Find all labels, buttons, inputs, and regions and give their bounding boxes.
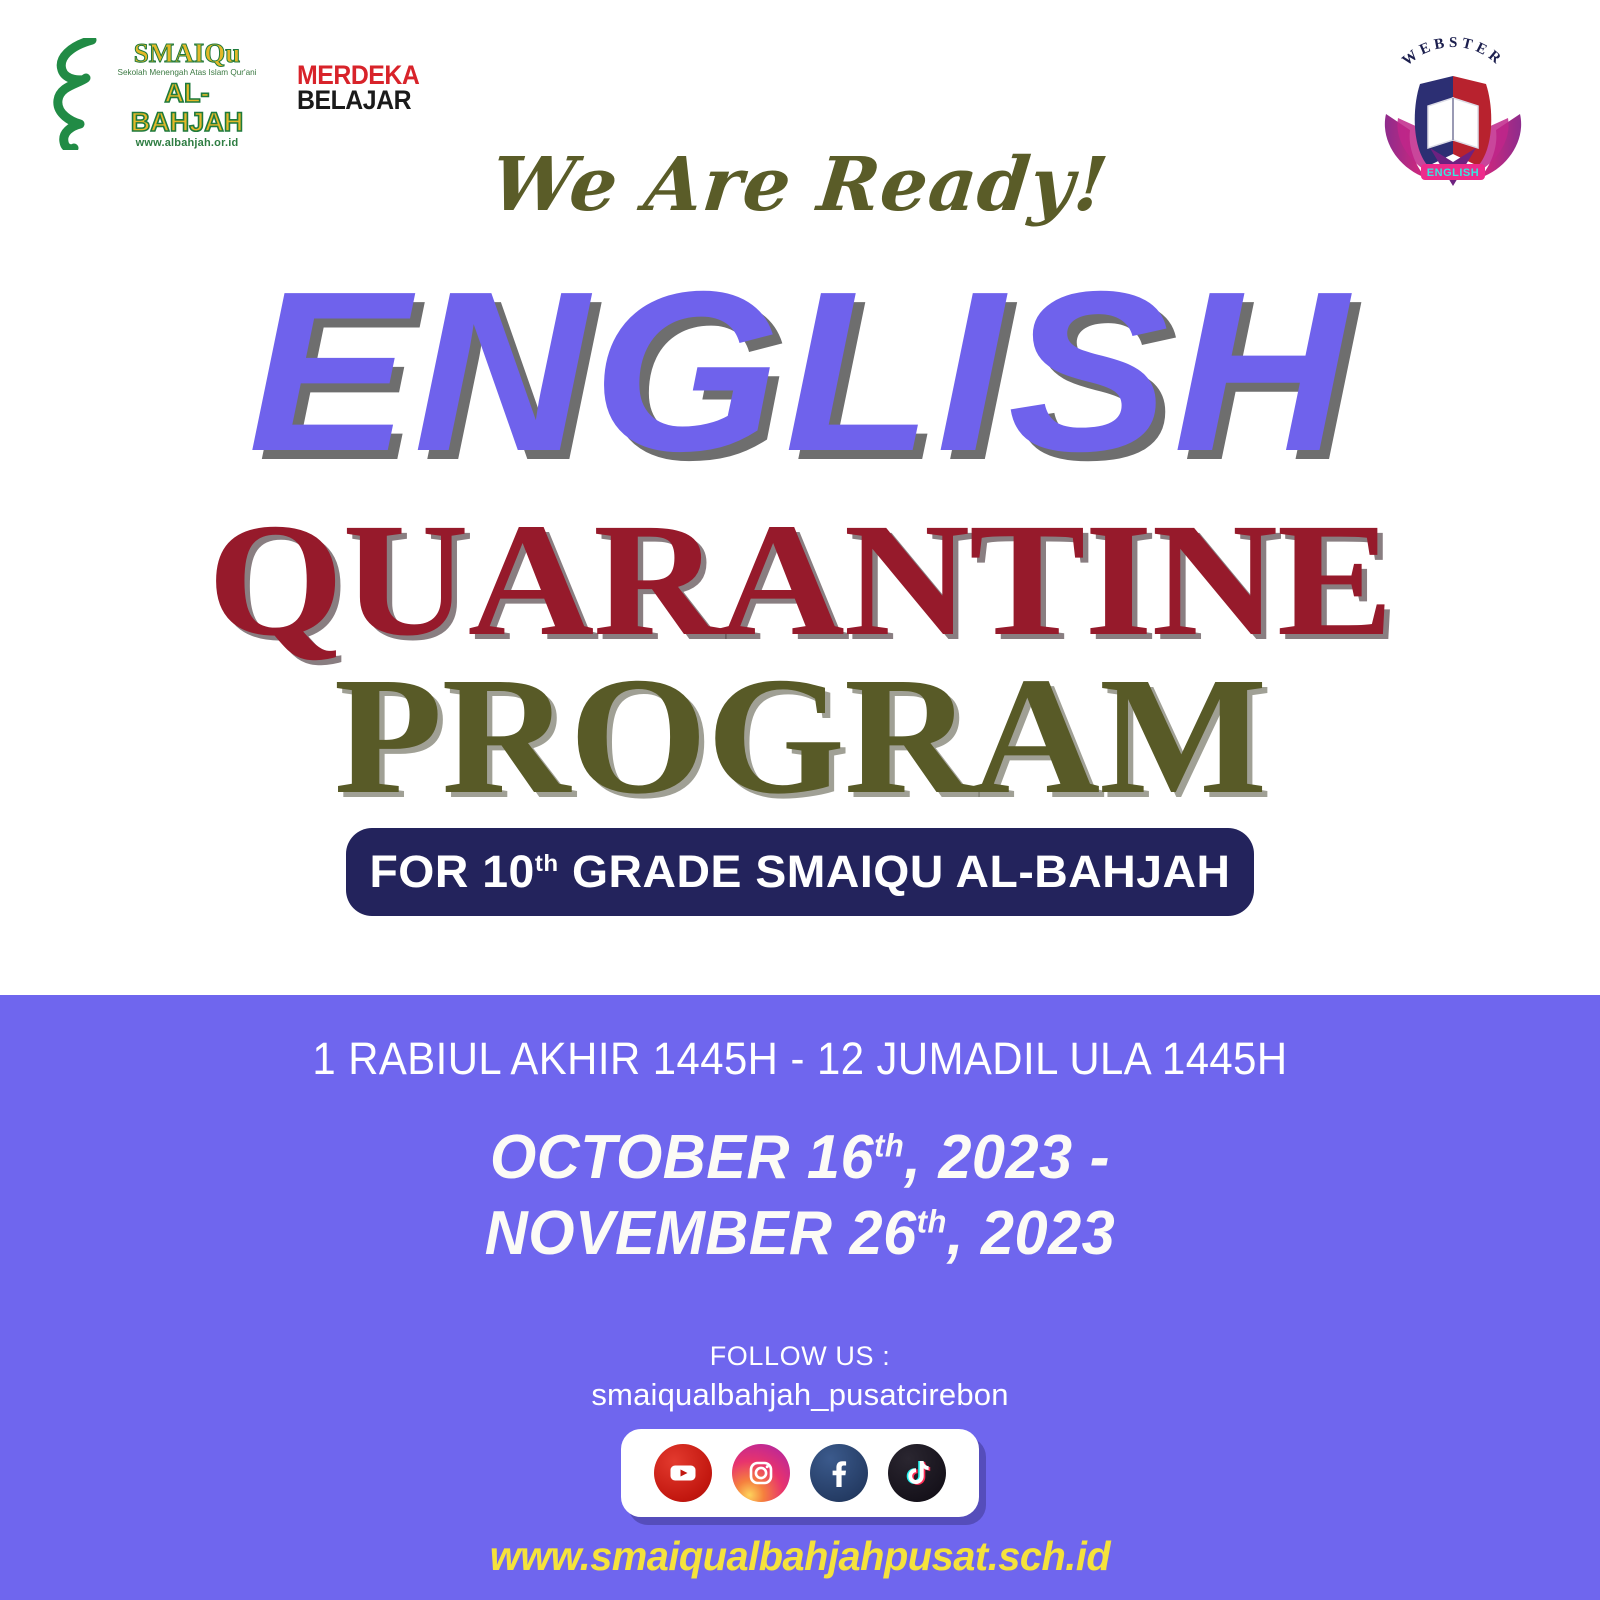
greg-line1-superscript: th (874, 1127, 904, 1163)
smaiqu-logo-text: SMAIQu Sekolah Menengah Atas Islam Qur'a… (112, 40, 262, 149)
youtube-glyph (666, 1456, 700, 1490)
svg-text:WEBSTER: WEBSTER (1399, 36, 1506, 69)
gregorian-date-range: OCTOBER 16th, 2023 - NOVEMBER 26th, 2023 (32, 1120, 1568, 1271)
hijri-date-range: 1 RABIUL AKHIR 1445H - 12 JUMADIL ULA 14… (56, 1033, 1544, 1085)
tiktok-icon[interactable] (888, 1444, 946, 1502)
albahjah-name: AL-BAHJAH (112, 79, 262, 136)
facebook-glyph (822, 1456, 856, 1490)
smaiqu-albahjah-logo: SMAIQu Sekolah Menengah Atas Islam Qur'a… (52, 38, 262, 150)
poster-upper-section: SMAIQu Sekolah Menengah Atas Islam Qur'a… (0, 0, 1600, 995)
belajar-word: BELAJAR (297, 88, 419, 113)
greg-line2-suffix: , 2023 (947, 1199, 1115, 1268)
grade-banner: FOR 10th GRADE SMAIQU AL-BAHJAH (346, 828, 1254, 916)
greg-line1-suffix: , 2023 - (904, 1123, 1110, 1192)
tiktok-glyph (900, 1456, 934, 1490)
follow-us-label: FOLLOW US : (0, 1341, 1600, 1372)
grade-banner-superscript: th (535, 850, 559, 876)
title-line-quarantine: QUARANTINE (0, 500, 1600, 662)
smaiqu-name: SMAIQu (112, 40, 262, 67)
smaiqu-tagline: Sekolah Menengah Atas Islam Qur'ani (112, 68, 262, 78)
gregorian-date-line1: OCTOBER 16th, 2023 - (32, 1120, 1568, 1196)
instagram-glyph (744, 1456, 778, 1490)
instagram-icon[interactable] (732, 1444, 790, 1502)
gregorian-date-line2: NOVEMBER 26th, 2023 (32, 1196, 1568, 1272)
title-line-program: PROGRAM (0, 652, 1600, 820)
greg-line2-prefix: NOVEMBER 26 (485, 1199, 917, 1268)
green-ribbon-mark (52, 38, 104, 150)
greg-line1-prefix: OCTOBER 16 (490, 1123, 874, 1192)
facebook-icon[interactable] (810, 1444, 868, 1502)
greg-line2-superscript: th (917, 1203, 947, 1239)
merdeka-belajar-logo: MERDEKA BELAJAR (297, 63, 430, 113)
grade-banner-text: FOR 10th GRADE SMAIQU AL-BAHJAH (369, 846, 1230, 898)
website-url[interactable]: www.smaiqualbahjahpusat.sch.id (24, 1533, 1576, 1580)
youtube-icon[interactable] (654, 1444, 712, 1502)
grade-banner-suffix: GRADE SMAIQU AL-BAHJAH (559, 846, 1231, 897)
title-line-english: ENGLISH (0, 268, 1600, 478)
social-handle: smaiqualbahjah_pusatcirebon (0, 1377, 1600, 1413)
grade-banner-prefix: FOR 10 (369, 846, 534, 897)
social-links-card (621, 1429, 979, 1517)
poster-lower-section: 1 RABIUL AKHIR 1445H - 12 JUMADIL ULA 14… (0, 995, 1600, 1600)
poster-canvas: SMAIQu Sekolah Menengah Atas Islam Qur'a… (0, 0, 1600, 1600)
script-headline: We Are Ready! (0, 142, 1600, 228)
